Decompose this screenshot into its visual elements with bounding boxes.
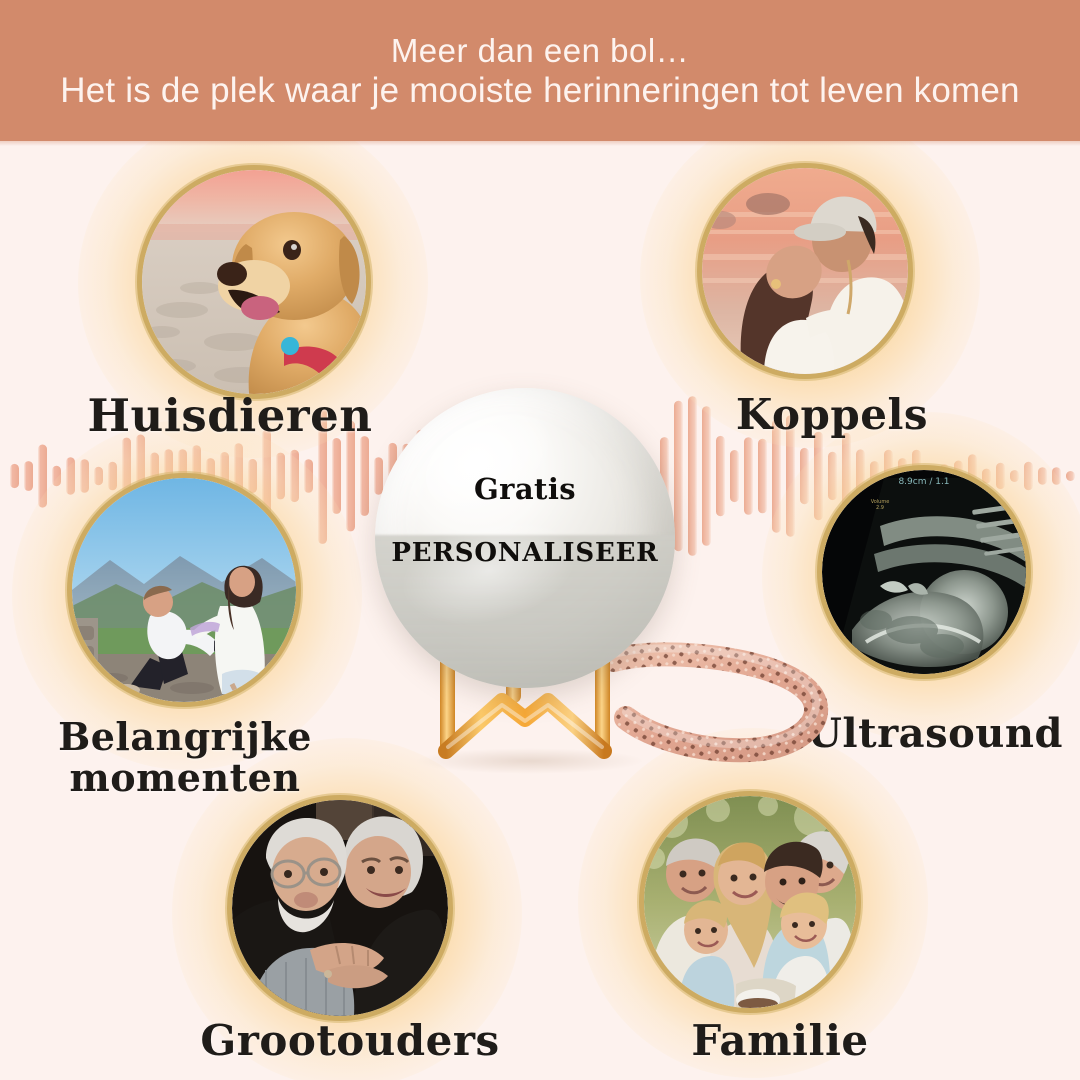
category-label-family: Familie	[630, 1018, 930, 1063]
category-photo-couples[interactable]	[702, 168, 908, 374]
svg-text:8.9cm / 1.1: 8.9cm / 1.1	[898, 477, 949, 487]
orb-text-gratis: Gratis	[375, 472, 675, 506]
category-label-line1: Belangrijke	[20, 716, 350, 757]
category-label-line2: momenten	[20, 757, 350, 798]
photo-family-portrait	[644, 796, 856, 1008]
category-label-pets: Huisdieren	[70, 392, 390, 441]
photo-fetal-ultrasound: 8.9cm / 1.1 Volume 2.9	[822, 470, 1026, 674]
poster-canvas: Huisdieren	[0, 0, 1080, 1080]
category-photo-important-moments[interactable]	[72, 478, 296, 702]
category-label-grandparents: Grootouders	[170, 1018, 530, 1063]
banner-headline: Meer dan een bol…	[391, 34, 689, 67]
photo-couple-sunset-beach	[702, 168, 908, 374]
orb-text-personaliseer: PERSONALISEER	[375, 538, 675, 568]
category-label-couples: Koppels	[682, 392, 982, 437]
svg-text:2.9: 2.9	[876, 505, 884, 511]
category-label-important-moments: Belangrijke momenten	[20, 716, 350, 798]
category-photo-grandparents[interactable]	[232, 800, 448, 1016]
orb-text-block: Gratis PERSONALISEER	[375, 472, 675, 568]
product-moon-lamp-orb[interactable]: Gratis PERSONALISEER	[375, 388, 675, 688]
photo-golden-retriever-beach	[142, 170, 366, 394]
photo-elderly-couple	[232, 800, 448, 1016]
banner-subheadline: Het is de plek waar je mooiste herinneri…	[60, 73, 1019, 108]
category-photo-family[interactable]	[644, 796, 856, 1008]
category-photo-pets[interactable]	[142, 170, 366, 394]
photo-marriage-proposal-mountain	[72, 478, 296, 702]
header-banner: Meer dan een bol… Het is de plek waar je…	[0, 0, 1080, 141]
category-photo-ultrasound[interactable]: 8.9cm / 1.1 Volume 2.9	[822, 470, 1026, 674]
